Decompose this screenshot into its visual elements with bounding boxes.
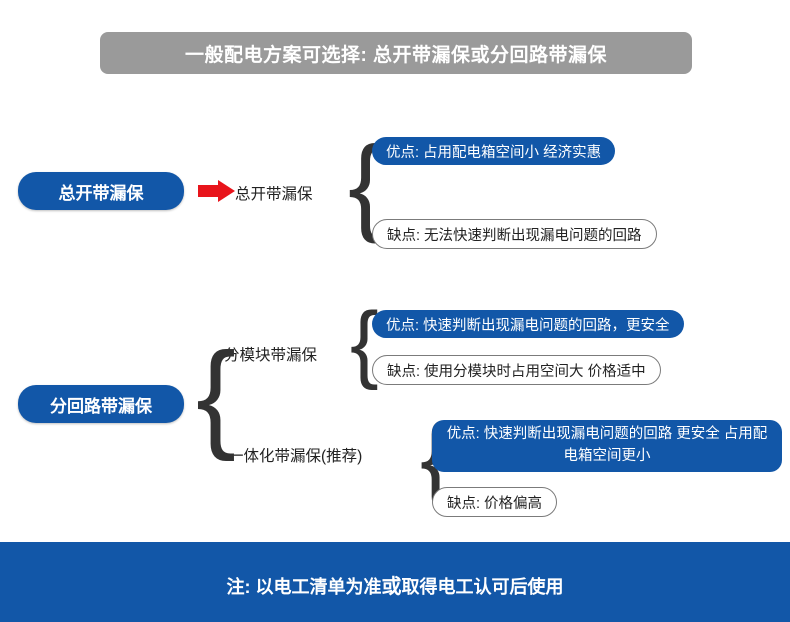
node-module-type: 分模块带漏保 bbox=[224, 343, 317, 365]
bubble-main-con: 缺点: 无法快速判断出现漏电问题的回路 bbox=[372, 219, 657, 249]
footer-note-suffix: 取得电工认可后使用 bbox=[402, 577, 564, 597]
main-breaker-pill[interactable]: 总开带漏保 bbox=[18, 172, 184, 210]
bubble-module-pro: 优点: 快速判断出现漏电问题的回路，更安全 bbox=[372, 310, 684, 338]
page-title: 一般配电方案可选择: 总开带漏保或分回路带漏保 bbox=[100, 32, 692, 74]
footer-note-emphasis: 或 bbox=[382, 576, 402, 598]
node-integrated-type: 一体化带漏保(推荐) bbox=[228, 444, 362, 466]
branch-circuit-pill[interactable]: 分回路带漏保 bbox=[18, 385, 184, 423]
right-arrow-icon bbox=[198, 180, 236, 202]
bubble-integrated-con: 缺点: 价格偏高 bbox=[432, 487, 557, 517]
footer-note: 注: 以电工清单为准或取得电工认可后使用 bbox=[227, 570, 564, 599]
node-main-breaker: 总开带漏保 bbox=[235, 182, 313, 204]
bubble-module-con: 缺点: 使用分模块时占用空间大 价格适中 bbox=[372, 355, 661, 385]
bubble-main-pro: 优点: 占用配电箱空间小 经济实惠 bbox=[372, 137, 615, 165]
bubble-integrated-pro: 优点: 快速判断出现漏电问题的回路 更安全 占用配电箱空间更小 bbox=[432, 420, 782, 472]
footer-bar: 注: 以电工清单为准或取得电工认可后使用 bbox=[0, 546, 790, 622]
brace-branch: { bbox=[196, 335, 236, 455]
diagram-canvas: 一般配电方案可选择: 总开带漏保或分回路带漏保 总开带漏保 分回路带漏保 总开带… bbox=[0, 0, 790, 622]
footer-note-prefix: 注: 以电工清单为准 bbox=[227, 577, 382, 597]
